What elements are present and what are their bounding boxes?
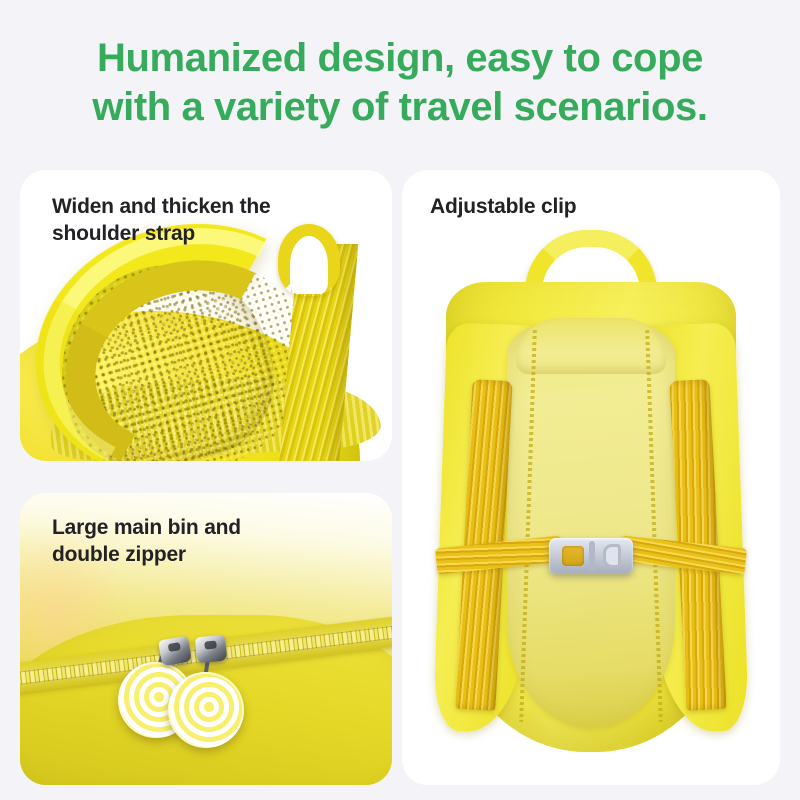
feature-card-adjustable-clip[interactable]: Adjustable clip bbox=[402, 170, 780, 785]
page-title: Humanized design, easy to cope with a va… bbox=[0, 34, 800, 132]
headline-line-2: with a variety of travel scenarios. bbox=[0, 83, 800, 132]
zipper-slider-hole bbox=[204, 640, 217, 649]
strap-webbing-loop-inner bbox=[290, 236, 328, 294]
card-title-adjustable-clip: Adjustable clip bbox=[430, 194, 576, 221]
headline-line-1: Humanized design, easy to cope bbox=[0, 34, 800, 83]
card-title-shoulder-strap: Widen and thicken the shoulder strap bbox=[52, 194, 270, 248]
chest-buckle-slot bbox=[562, 546, 584, 566]
chest-buckle-prong bbox=[603, 544, 621, 568]
zipper-slider-right bbox=[195, 635, 228, 664]
chest-buckle-divider bbox=[589, 541, 595, 571]
card-title-main-bin-zipper: Large main bin and double zipper bbox=[52, 515, 241, 569]
chest-buckle bbox=[549, 538, 633, 574]
zipper-slider-hole bbox=[168, 642, 181, 652]
zipper-slider-left bbox=[158, 636, 192, 667]
back-panel-top bbox=[516, 318, 666, 374]
feature-card-shoulder-strap[interactable]: Widen and thicken the shoulder strap bbox=[20, 170, 392, 461]
zipper-pull-right bbox=[168, 672, 244, 748]
infographic-page: Humanized design, easy to cope with a va… bbox=[0, 0, 800, 800]
backpack-back-photo bbox=[402, 170, 780, 785]
